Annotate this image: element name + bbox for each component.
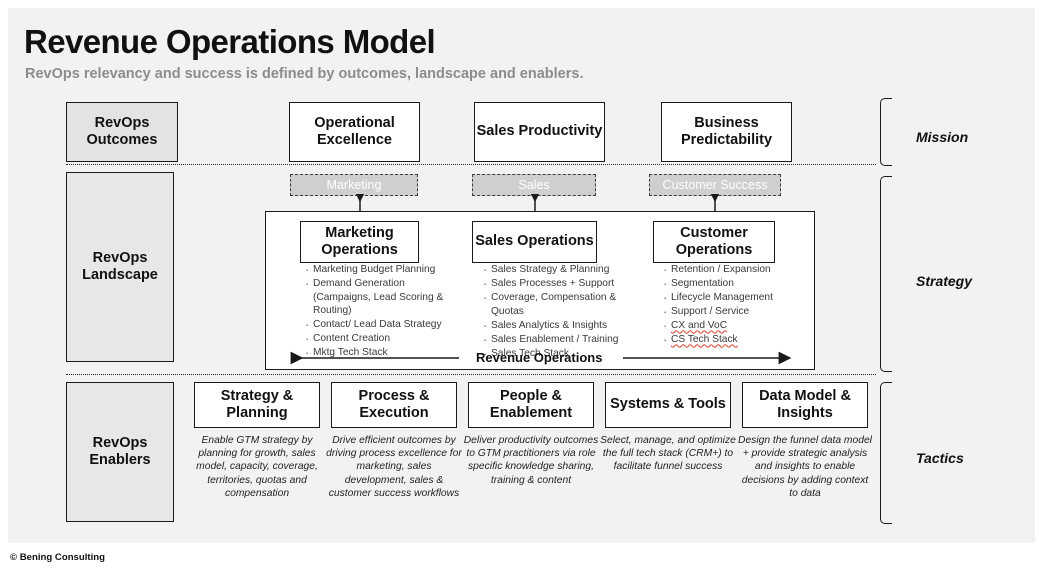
band-label-strategy: Strategy xyxy=(916,273,972,289)
list-item: Segmentation xyxy=(671,277,810,291)
outcome-operational-excellence[interactable]: Operational Excellence xyxy=(289,102,420,162)
slide-canvas: Revenue Operations Model RevOps relevanc… xyxy=(8,8,1035,543)
channel-sales[interactable]: Sales xyxy=(472,174,596,196)
list-item: CS Tech Stack xyxy=(671,333,810,347)
bracket-strategy xyxy=(880,176,892,372)
page-subtitle: RevOps relevancy and success is defined … xyxy=(25,66,583,82)
list-item: Marketing Budget Planning xyxy=(313,263,462,277)
enabler-strategy-planning-description: Enable GTM strategy by planning for grow… xyxy=(189,434,325,500)
list-item: Sales Enablement / Training xyxy=(491,333,632,347)
list-item: Sales Analytics & Insights xyxy=(491,319,632,333)
list-item: Coverage, Compensation & Quotas xyxy=(491,291,632,318)
band-label-mission: Mission xyxy=(916,129,968,145)
enabler-people-enablement[interactable]: People & Enablement xyxy=(468,382,594,428)
revenue-operations-spine-label: Revenue Operations xyxy=(476,350,602,365)
outcome-business-predictability[interactable]: Business Predictability xyxy=(661,102,792,162)
list-item: CX and VoC xyxy=(671,319,810,333)
enabler-data-model-insights-description: Design the funnel data model + provide s… xyxy=(737,434,873,500)
enabler-people-enablement-description: Deliver productivity outcomes to GTM pra… xyxy=(463,434,599,487)
ops-box-marketing-operations[interactable]: Marketing Operations xyxy=(300,221,419,263)
list-item: Demand Generation (Campaigns, Lead Scori… xyxy=(313,277,462,318)
enabler-process-execution[interactable]: Process & Execution xyxy=(331,382,457,428)
page-title: Revenue Operations Model xyxy=(24,23,435,61)
enabler-systems-tools[interactable]: Systems & Tools xyxy=(605,382,731,428)
enabler-data-model-insights[interactable]: Data Model & Insights xyxy=(742,382,868,428)
ops-box-customer-operations[interactable]: Customer Operations xyxy=(653,221,775,263)
bullets-marketing-operations: Marketing Budget Planning Demand Generat… xyxy=(302,263,462,360)
band-label-tactics: Tactics xyxy=(916,450,964,466)
list-item: Sales Processes + Support xyxy=(491,277,632,291)
enabler-process-execution-description: Drive efficient outcomes by driving proc… xyxy=(326,434,462,500)
enabler-strategy-planning[interactable]: Strategy & Planning xyxy=(194,382,320,428)
footer-copyright: © Bening Consulting xyxy=(10,552,105,563)
bracket-tactics xyxy=(880,382,892,524)
outcome-sales-productivity[interactable]: Sales Productivity xyxy=(474,102,605,162)
channel-marketing[interactable]: Marketing xyxy=(290,174,418,196)
separator-mission-strategy xyxy=(66,164,876,165)
channel-customer-success[interactable]: Customer Success xyxy=(649,174,781,196)
separator-strategy-tactics xyxy=(66,374,876,375)
revops-landscape-label-box: RevOps Landscape xyxy=(66,172,174,362)
list-item: Lifecycle Management xyxy=(671,291,810,305)
list-item: Content Creation xyxy=(313,332,462,346)
bullets-customer-operations: Retention / Expansion Segmentation Lifec… xyxy=(660,263,810,347)
revops-enablers-label-box: RevOps Enablers xyxy=(66,382,174,522)
list-item: Sales Strategy & Planning xyxy=(491,263,632,277)
bullets-sales-operations: Sales Strategy & Planning Sales Processe… xyxy=(480,263,632,361)
ops-box-sales-operations[interactable]: Sales Operations xyxy=(472,221,597,263)
bracket-mission xyxy=(880,98,892,166)
list-item: Retention / Expansion xyxy=(671,263,810,277)
revops-outcomes-label-box: RevOps Outcomes xyxy=(66,102,178,162)
list-item: Contact/ Lead Data Strategy xyxy=(313,318,462,332)
enabler-systems-tools-description: Select, manage, and optimize the full te… xyxy=(600,434,736,474)
list-item: Support / Service xyxy=(671,305,810,319)
